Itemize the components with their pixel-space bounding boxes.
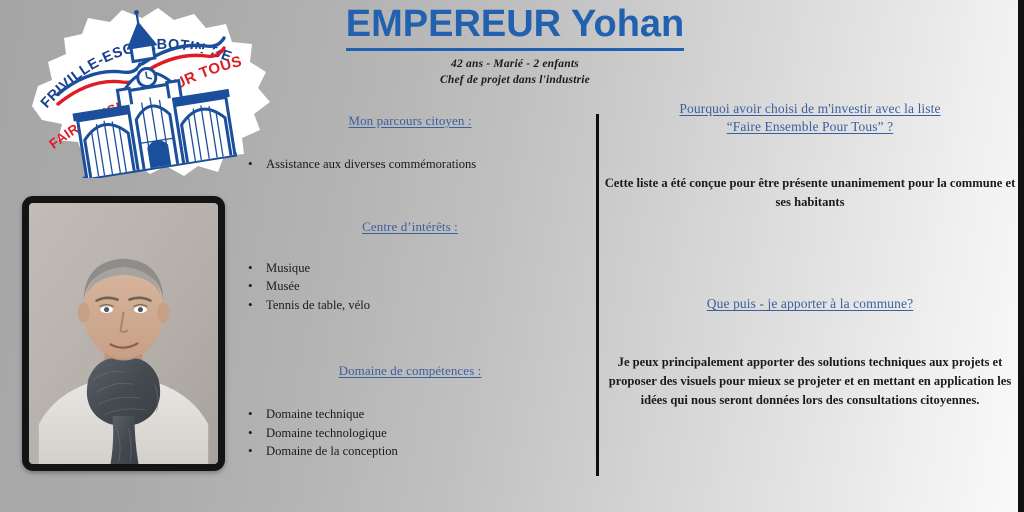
section-apport-heading: Que puis - je apporter à la commune? <box>604 295 1016 313</box>
list-item: Domaine de la conception <box>236 442 584 461</box>
list-item: Musique <box>236 259 584 278</box>
page-title: EMPEREUR Yohan <box>346 4 685 51</box>
section-pourquoi-heading-line2: “Faire Ensemble Pour Tous” ? <box>727 119 894 134</box>
list-item: Musée <box>236 277 584 296</box>
left-column: Mon parcours citoyen : Assistance aux di… <box>236 112 584 461</box>
slide-canvas: FRIVILLE-ESCARBOTIN-BELLOY FAIRE ENSEMBL… <box>0 0 1024 512</box>
section-apport: Que puis - je apporter à la commune? Je … <box>604 295 1016 409</box>
section-competences: Domaine de compétences : Domaine techniq… <box>236 362 584 461</box>
section-parcours-list: Assistance aux diverses commémorations <box>236 155 584 174</box>
header-block: EMPEREUR Yohan 42 ans - Marié - 2 enfant… <box>300 4 730 89</box>
campaign-logo-graphic: FRIVILLE-ESCARBOTIN-BELLOY FAIRE ENSEMBL… <box>18 2 278 178</box>
section-pourquoi-heading: Pourquoi avoir choisi de m'investir avec… <box>604 100 1016 136</box>
right-column: Pourquoi avoir choisi de m'investir avec… <box>604 100 1016 410</box>
section-parcours: Mon parcours citoyen : Assistance aux di… <box>236 112 584 174</box>
candidate-portrait <box>29 203 218 464</box>
section-pourquoi-body: Cette liste a été conçue pour être prése… <box>604 174 1016 212</box>
subtitle-block: 42 ans - Marié - 2 enfants Chef de proje… <box>300 57 730 89</box>
campaign-logo: FRIVILLE-ESCARBOTIN-BELLOY FAIRE ENSEMBL… <box>18 2 278 178</box>
list-item: Assistance aux diverses commémorations <box>236 155 584 174</box>
section-apport-body: Je peux principalement apporter des solu… <box>604 353 1016 410</box>
section-competences-list: Domaine technique Domaine technologique … <box>236 405 584 461</box>
section-competences-heading: Domaine de compétences : <box>236 362 584 379</box>
subtitle-occupation: Chef de projet dans l'industrie <box>300 73 730 89</box>
section-interets-heading: Centre d’intérêts : <box>236 218 584 235</box>
list-item: Domaine technologique <box>236 424 584 443</box>
subtitle-personal: 42 ans - Marié - 2 enfants <box>300 57 730 73</box>
section-pourquoi-heading-line1: Pourquoi avoir choisi de m'investir avec… <box>679 101 940 116</box>
list-item: Tennis de table, vélo <box>236 296 584 315</box>
list-item: Domaine technique <box>236 405 584 424</box>
section-parcours-heading: Mon parcours citoyen : <box>236 112 584 129</box>
section-interets-list: Musique Musée Tennis de table, vélo <box>236 259 584 315</box>
section-interets: Centre d’intérêts : Musique Musée Tennis… <box>236 218 584 315</box>
section-pourquoi: Pourquoi avoir choisi de m'investir avec… <box>604 100 1016 211</box>
candidate-photo-frame <box>22 196 225 471</box>
column-divider <box>596 114 599 476</box>
